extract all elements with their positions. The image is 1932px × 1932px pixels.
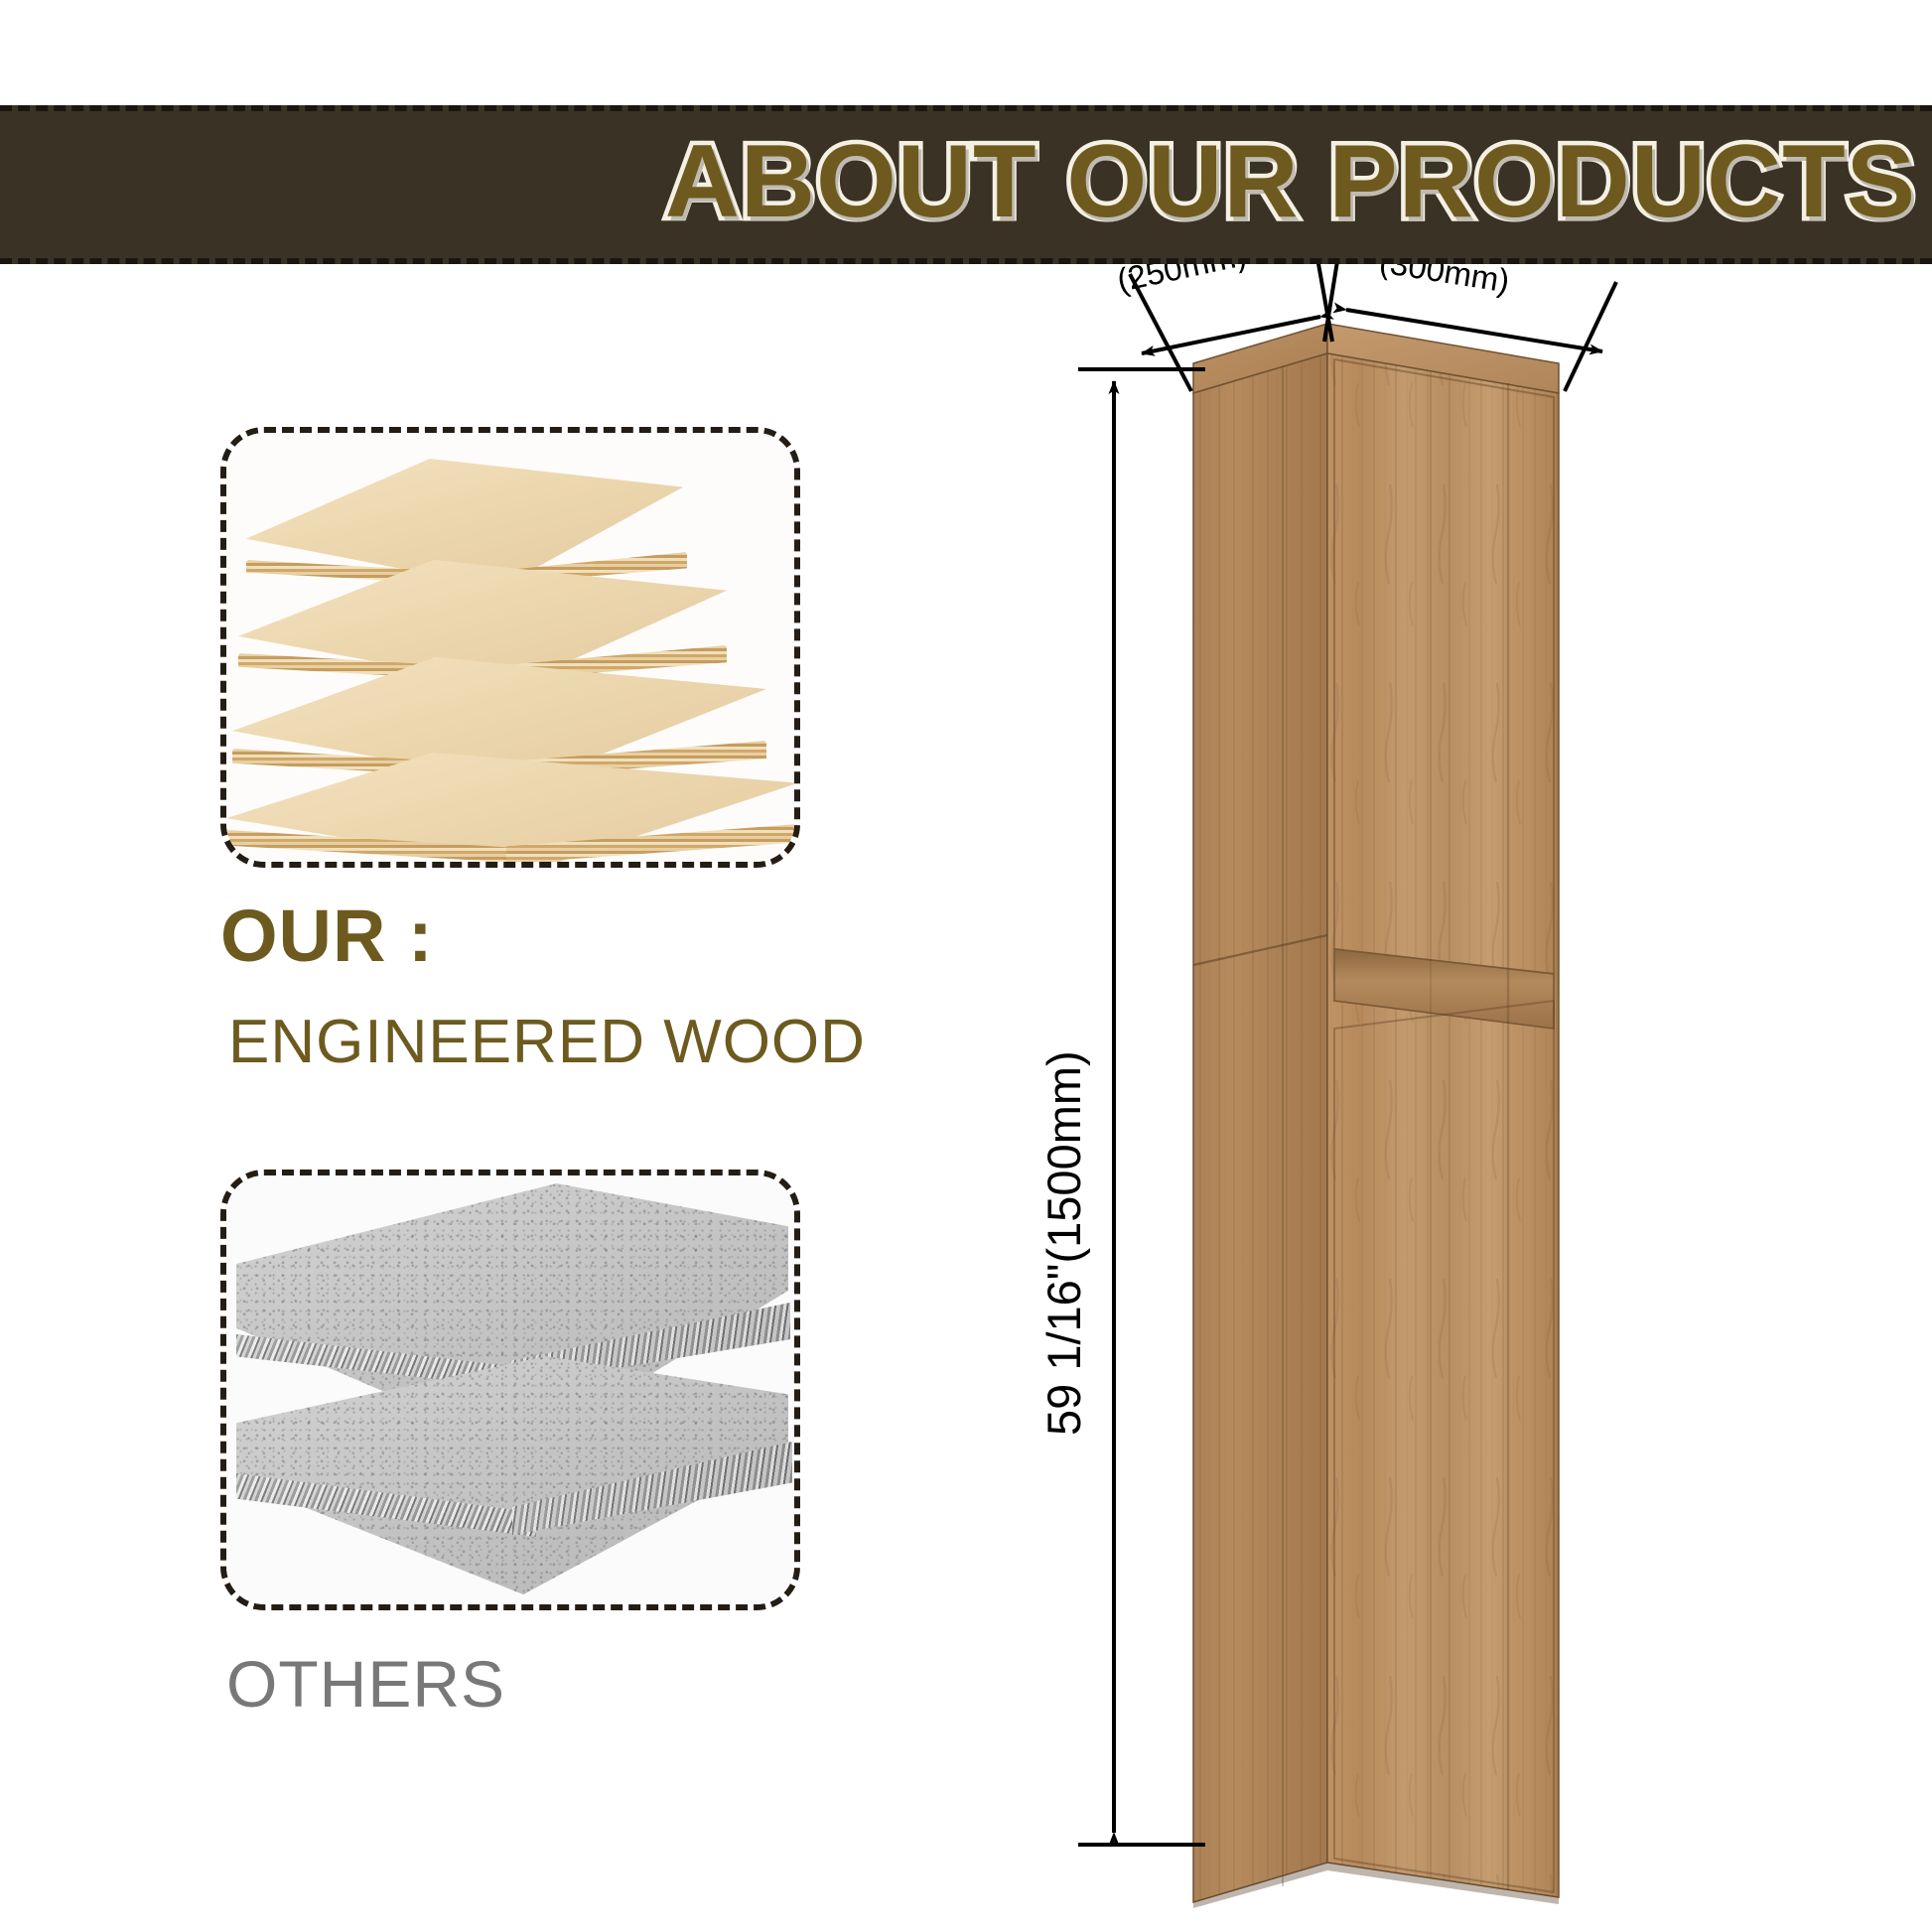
cabinet-body: [1193, 324, 1559, 1908]
material-comparison-section: OUR : ENGINEERED WOOD OTHERS: [0, 264, 993, 1932]
engineered-wood-photo: [226, 433, 794, 862]
cabinet-drawing: 9 13/16" (250mm) 11 13/16" (300mm) 59 1/…: [993, 264, 1932, 1932]
header-banner: ABOUT OUR PRODUCTS: [0, 105, 1932, 264]
height-dimension: [1078, 369, 1205, 1845]
others-photo-frame: [220, 1170, 800, 1610]
engineered-wood-photo-frame: [220, 427, 800, 868]
engineered-wood-label: ENGINEERED WOOD: [228, 1007, 866, 1077]
width-metric-label: (300mm): [1377, 264, 1512, 300]
height-label: 59 1/16"(1500mm): [1037, 1050, 1090, 1436]
others-label: OTHERS: [226, 1646, 505, 1722]
page-title: ABOUT OUR PRODUCTS: [665, 123, 1916, 241]
product-dimension-diagram: 9 13/16" (250mm) 11 13/16" (300mm) 59 1/…: [993, 264, 1932, 1932]
particleboard-stack-illustration: [226, 1175, 794, 1604]
plywood-stack-illustration: [226, 433, 794, 862]
others-photo: [226, 1175, 794, 1604]
our-material-prefix-label: OUR :: [220, 894, 434, 978]
depth-metric-label: (250mm): [1114, 264, 1250, 299]
